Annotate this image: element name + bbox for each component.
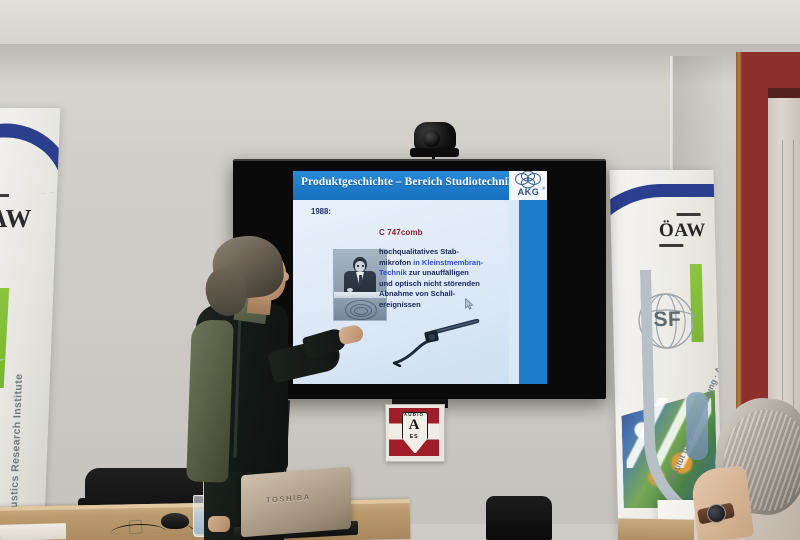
- door-panel-line: [793, 140, 794, 440]
- tv-bezel-highlight: [233, 159, 606, 161]
- slide-line-2-highlight: in Kleinstmembran-: [413, 258, 483, 267]
- plaque-monogram: A: [402, 418, 426, 433]
- mouse-pointer-icon: [465, 298, 474, 310]
- photo-lectern-ring: [354, 307, 368, 315]
- seated-attendee-figure: [694, 398, 800, 540]
- slide-product-name: C 747comb: [379, 228, 423, 237]
- dark-equipment-case: [486, 496, 552, 540]
- slide-body-text: hochqualitatives Stab- mikrofon in Klein…: [379, 247, 501, 311]
- attendee-arm: [690, 465, 754, 540]
- slide-line-3-highlight: Technik: [379, 268, 407, 277]
- photo-figure-eye: [362, 265, 364, 267]
- presenter-lower-hand: [208, 516, 230, 532]
- slide-line-4: und optisch nicht störenden: [379, 279, 480, 288]
- door-lintel: [768, 88, 800, 98]
- oaw-acronym: ÖAW: [659, 220, 706, 242]
- banner-rule-top: [677, 213, 701, 216]
- slide-line-2: mikrofon: [379, 258, 413, 267]
- oaw-acronym: ÖAW: [0, 204, 32, 234]
- slide-line-6: ereignissen: [379, 300, 421, 309]
- banner-arc-graphic: [0, 120, 60, 200]
- camera-base: [410, 148, 459, 157]
- slide-line-5: Abnahme von Schall-: [379, 289, 455, 298]
- slide-right-accent-bar: [519, 200, 547, 384]
- slide-title: Produktgeschichte – Bereich Studiotechni…: [301, 176, 506, 188]
- plaque-bottom-text: ES: [402, 434, 426, 440]
- banner-rule-top: [0, 194, 9, 197]
- paper-sheet: [0, 523, 66, 540]
- akg-wordmark: AKG: [512, 187, 545, 197]
- photo-figure-face: [355, 261, 365, 272]
- registered-mark: ®: [542, 186, 545, 191]
- computer-mouse[interactable]: [161, 513, 189, 529]
- door-panel-line: [782, 140, 783, 440]
- photo-figure-eye: [357, 265, 359, 267]
- slide-line-1: hochqualitatives Stab-: [379, 247, 459, 256]
- camera-lens-icon: [423, 130, 440, 147]
- gooseneck-microphone-graphic: [391, 319, 483, 367]
- slide-line-3-rest: zur unauffälligen: [407, 268, 469, 277]
- presenter-sweater-sleeve: [186, 319, 234, 482]
- banner-rule-bottom: [659, 244, 683, 247]
- slide-year-label: 1988:: [311, 207, 331, 216]
- room-photo-scene: ÖAW Acoustics Research Institute ÖAW ISF…: [0, 0, 800, 540]
- photo-figure-tie: [359, 275, 362, 285]
